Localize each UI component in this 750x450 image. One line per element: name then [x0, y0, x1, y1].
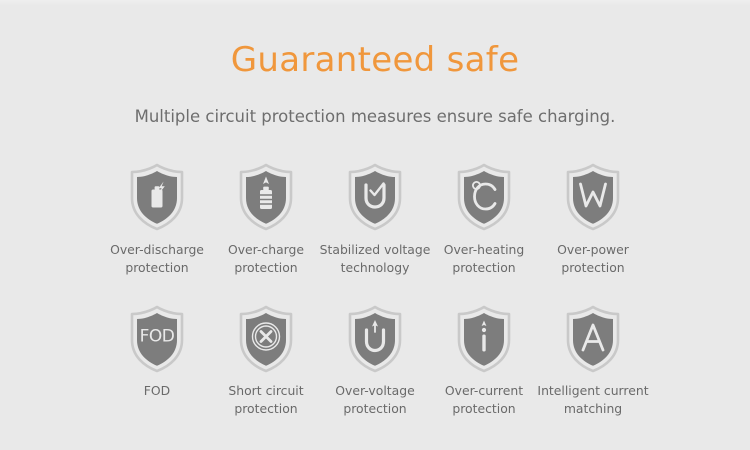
feature-over-heating: Over-heating protection	[430, 162, 539, 276]
feature-short-circuit: Short circuit protection	[212, 304, 321, 417]
label-line-2: technology	[341, 260, 410, 275]
feature-label: FOD	[98, 382, 216, 400]
shield-battery-charge-icon	[235, 162, 297, 232]
label-line-2: protection	[234, 401, 297, 416]
feature-intelligent-current-matching: Intelligent current matching	[539, 304, 648, 417]
feature-label: Intelligent current matching	[534, 382, 652, 417]
shield-watt-icon	[562, 162, 624, 232]
shield-over-current-icon	[453, 304, 515, 374]
label-line-2: protection	[343, 401, 406, 416]
feature-label: Over-voltage protection	[316, 382, 434, 417]
label-line-1: Over-current	[445, 383, 523, 398]
feature-label: Over-current protection	[425, 382, 543, 417]
label-line-2: protection	[452, 401, 515, 416]
shield-fod-icon: FOD	[126, 304, 188, 374]
label-line-1: Stabilized voltage	[320, 242, 431, 257]
label-line-2: matching	[564, 401, 622, 416]
feature-over-current: Over-current protection	[430, 304, 539, 417]
feature-label: Over-charge protection	[207, 241, 325, 276]
feature-over-voltage: Over-voltage protection	[321, 304, 430, 417]
feature-label: Over-heating protection	[425, 241, 543, 276]
label-line-1: Over-power	[557, 242, 629, 257]
feature-fod: FOD FOD	[103, 304, 212, 400]
feature-over-discharge: Over-discharge protection	[103, 162, 212, 276]
label-line-2: protection	[125, 260, 188, 275]
shield-temperature-celsius-icon	[453, 162, 515, 232]
feature-label: Over-discharge protection	[98, 241, 216, 276]
protection-row-2: FOD FOD Short circuit protection	[0, 304, 750, 417]
shield-voltage-check-icon	[344, 162, 406, 232]
feature-label: Over-power protection	[534, 241, 652, 276]
promo-panel: Guaranteed safe Multiple circuit protect…	[0, 0, 750, 450]
feature-over-power: Over-power protection	[539, 162, 648, 276]
label-line-1: Short circuit	[228, 383, 303, 398]
page-title: Guaranteed safe	[0, 42, 750, 79]
shield-short-circuit-icon	[235, 304, 297, 374]
label-line-1: Over-voltage	[335, 383, 414, 398]
label-line-1: Intelligent current	[537, 383, 648, 398]
feature-stabilized-voltage: Stabilized voltage technology	[321, 162, 430, 276]
protection-row-1: Over-discharge protection	[0, 162, 750, 276]
svg-text:FOD: FOD	[140, 327, 175, 347]
top-edge-band	[0, 0, 750, 5]
feature-label: Short circuit protection	[207, 382, 325, 417]
feature-over-charge: Over-charge protection	[212, 162, 321, 276]
label-line-1: Over-heating	[444, 242, 525, 257]
label-line-2: protection	[561, 260, 624, 275]
shield-battery-discharge-icon	[126, 162, 188, 232]
feature-label: Stabilized voltage technology	[316, 241, 434, 276]
shield-over-voltage-icon	[344, 304, 406, 374]
label-line-2: protection	[452, 260, 515, 275]
page-subtitle: Multiple circuit protection measures ens…	[0, 107, 750, 127]
label-line-1: Over-charge	[228, 242, 304, 257]
label-line-1: FOD	[144, 383, 170, 398]
label-line-2: protection	[234, 260, 297, 275]
label-line-1: Over-discharge	[110, 242, 204, 257]
shield-ampere-icon	[562, 304, 624, 374]
